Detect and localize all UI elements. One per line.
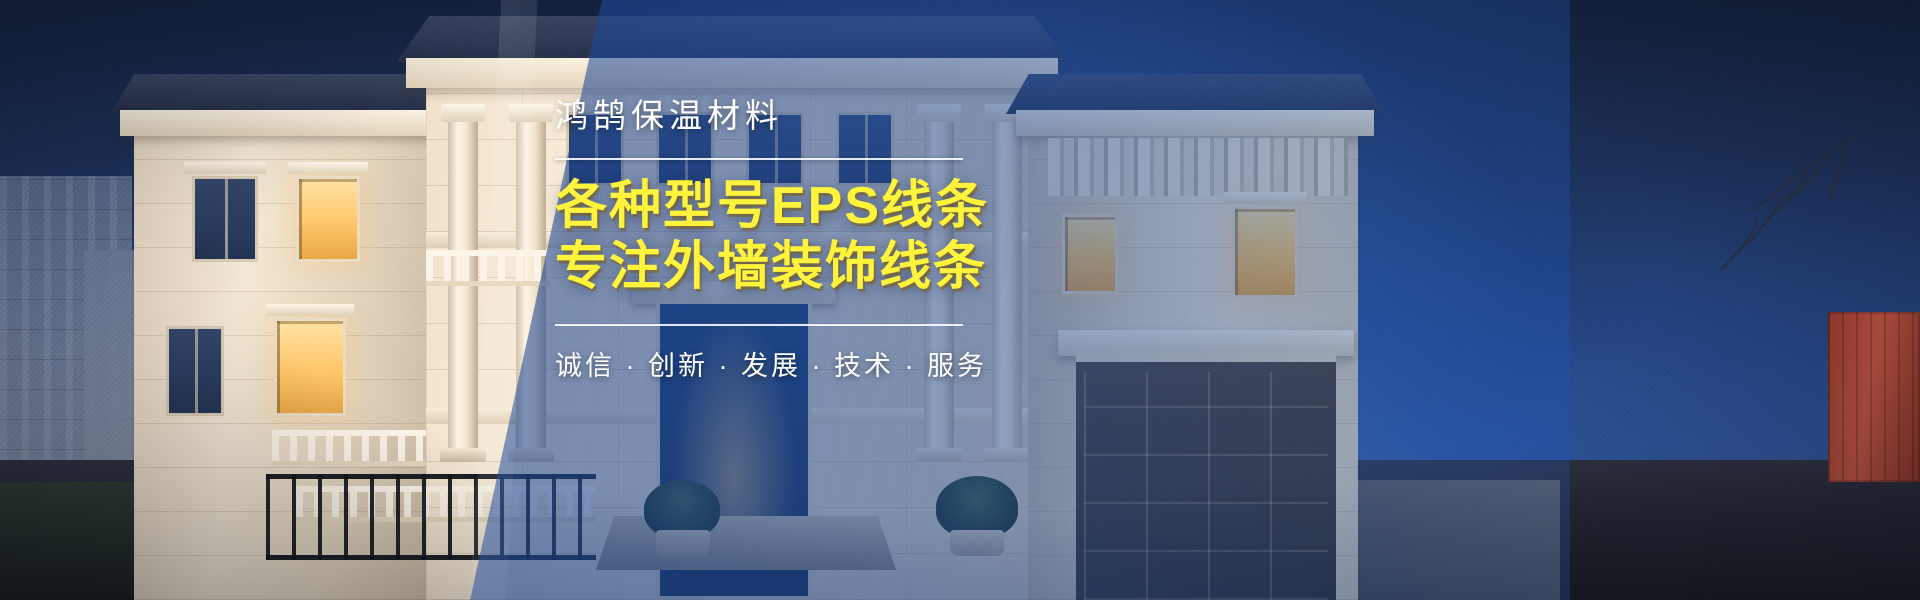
- brand-name: 鸿鹄保温材料: [555, 96, 1115, 136]
- window-lit-icon: [274, 318, 346, 416]
- window-pediment: [184, 162, 266, 174]
- banner-copy: 鸿鹄保温材料 各种型号EPS线条 专注外墙装饰线条 诚信 · 创新 · 发展 ·…: [555, 96, 1115, 383]
- divider-bottom: [555, 324, 963, 326]
- left-wing-cornice: [120, 110, 448, 136]
- window-pediment: [288, 162, 368, 174]
- window-lit-icon: [296, 176, 360, 262]
- window-icon: [192, 176, 258, 262]
- window-icon: [166, 326, 224, 416]
- window-pediment: [266, 304, 354, 316]
- headline-line-1: 各种型号EPS线条: [555, 176, 1115, 237]
- red-container: [1828, 312, 1920, 482]
- divider-top: [555, 158, 963, 160]
- tagline: 诚信 · 创新 · 发展 · 技术 · 服务: [555, 344, 1115, 383]
- tree-branch-icon: [1632, 126, 1862, 306]
- headline-line-2: 专注外墙装饰线条: [555, 237, 1115, 298]
- balustrade: [272, 430, 448, 466]
- hero-banner: 鸿鹄保温材料 各种型号EPS线条 专注外墙装饰线条 诚信 · 创新 · 发展 ·…: [0, 0, 1920, 600]
